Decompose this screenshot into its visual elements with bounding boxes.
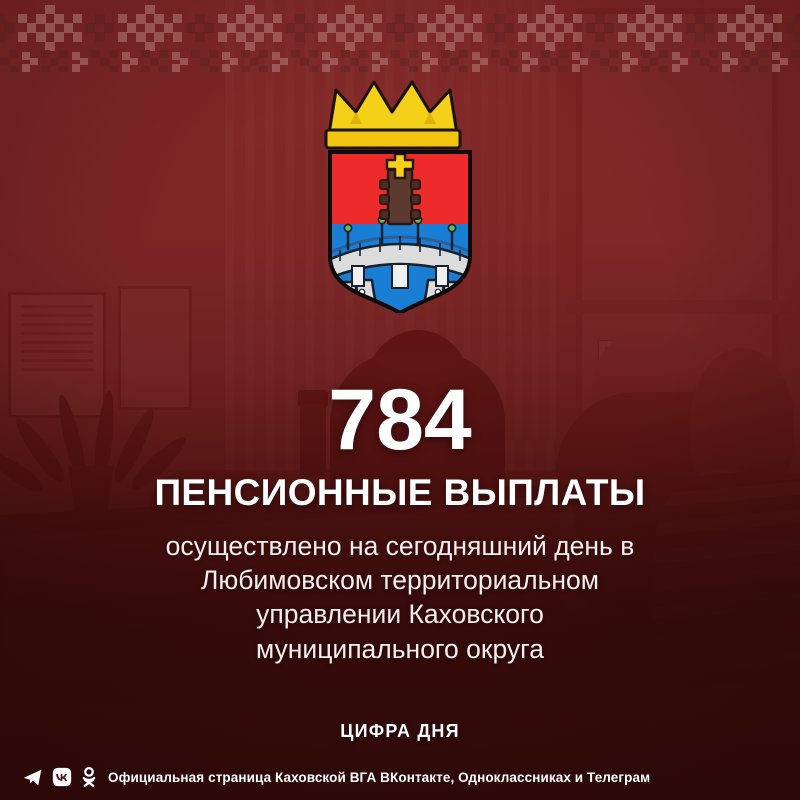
statistic-description: осуществлено на сегодняшний день в Любим… [100,529,700,667]
odnoklassniki-icon[interactable] [81,767,97,788]
statistic-number: 784 [0,380,800,462]
main-content: 784 ПЕНСИОННЫЕ ВЫПЛАТЫ осуществлено на с… [0,380,800,666]
shield [320,150,482,313]
description-line: Любимовском территориальном [100,563,700,597]
statistic-headline: ПЕНСИОННЫЕ ВЫПЛАТЫ [0,474,800,513]
coat-of-arms [310,68,490,313]
embroidery-pattern-border [0,0,800,72]
crown-icon [326,82,460,148]
footer-credit-text: Официальная страница Каховской ВГА ВКонт… [108,770,650,785]
telegram-icon[interactable] [22,767,43,788]
description-line: управлении Каховского [100,597,700,631]
pillar-charge [380,154,420,224]
coat-of-arms-svg [310,68,490,313]
figure-of-the-day-label: ЦИФРА ДНЯ [0,721,800,742]
footer-credit-bar: Официальная страница Каховской ВГА ВКонт… [0,760,800,794]
poster-canvas: 784 ПЕНСИОННЫЕ ВЫПЛАТЫ осуществлено на с… [0,0,800,800]
vk-icon[interactable] [52,767,72,787]
social-icons-group [22,767,97,788]
description-line: муниципального округа [100,632,700,666]
description-line: осуществлено на сегодняшний день в [100,529,700,563]
